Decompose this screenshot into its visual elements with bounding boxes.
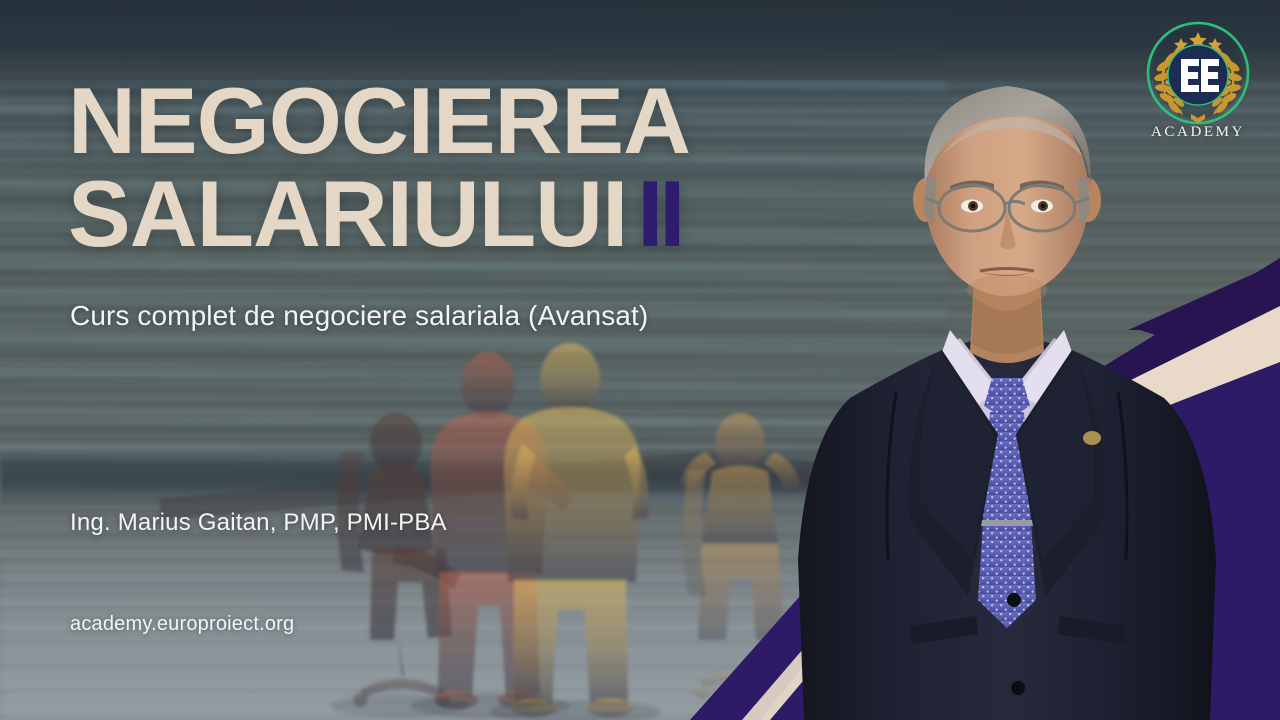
subtitle: Curs complet de negociere salariala (Ava… — [70, 300, 648, 332]
logo-wordmark: ACADEMY — [1138, 124, 1258, 141]
website-url: academy.europroiect.org — [70, 613, 294, 636]
title-numeral: II — [637, 161, 681, 266]
ee-academy-laurel-badge-icon — [1143, 18, 1253, 128]
course-title-slide: NEGOCIEREA SALARIULUIII Curs complet de … — [0, 0, 1280, 720]
text-layer: NEGOCIEREA SALARIULUIII Curs complet de … — [0, 0, 1280, 720]
ee-academy-logo: ACADEMY — [1138, 18, 1258, 148]
presenter-name: Ing. Marius Gaitan, PMP, PMI-PBA — [70, 509, 447, 537]
title-line-1: NEGOCIEREA — [68, 68, 690, 173]
page-title: NEGOCIEREA SALARIULUIII — [68, 74, 690, 260]
title-line-2: SALARIULUI — [68, 161, 627, 266]
